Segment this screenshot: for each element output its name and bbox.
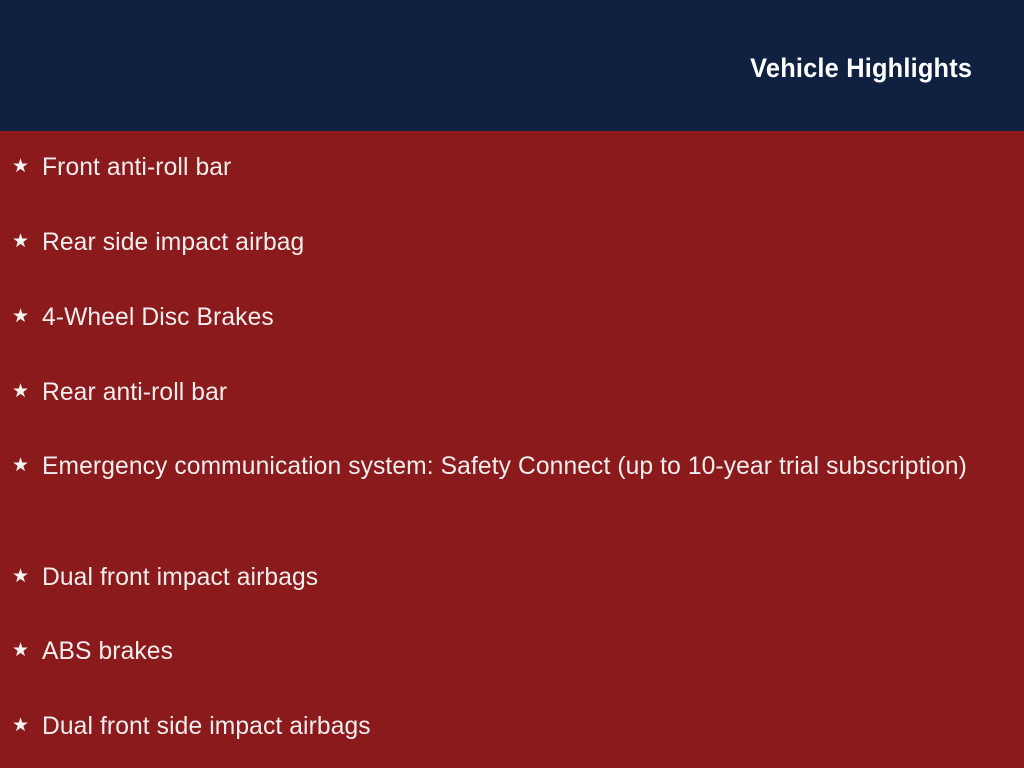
list-item: ★ ABS brakes	[12, 636, 994, 667]
list-item-label: 4-Wheel Disc Brakes	[42, 302, 980, 333]
list-item: ★ Dual front side impact airbags	[12, 711, 994, 742]
list-item-label: Rear side impact airbag	[42, 227, 980, 258]
list-item: ★ Emergency communication system: Safety…	[12, 451, 994, 482]
list-item-label: ABS brakes	[42, 636, 980, 667]
list-item-label: Dual front impact airbags	[42, 562, 980, 593]
page-title: Vehicle Highlights	[750, 55, 972, 82]
star-bullet-icon: ★	[12, 227, 42, 257]
star-bullet-icon: ★	[12, 451, 42, 481]
vehicle-highlights-list: ★ Front anti-roll bar ★ Rear side impact…	[0, 131, 1024, 768]
list-item: ★ 4-Wheel Disc Brakes	[12, 302, 994, 333]
list-item-label: Rear anti-roll bar	[42, 377, 980, 408]
list-item: ★ Front anti-roll bar	[12, 152, 994, 183]
star-bullet-icon: ★	[12, 562, 42, 592]
list-item-label: Emergency communication system: Safety C…	[42, 451, 980, 482]
star-bullet-icon: ★	[12, 152, 42, 182]
star-bullet-icon: ★	[12, 377, 42, 407]
list-item-label: Dual front side impact airbags	[42, 711, 980, 742]
list-item: ★ Rear anti-roll bar	[12, 377, 994, 408]
star-bullet-icon: ★	[12, 636, 42, 666]
slide-header-band: Vehicle Highlights	[0, 0, 1024, 131]
list-item: ★ Dual front impact airbags	[12, 562, 994, 593]
star-bullet-icon: ★	[12, 711, 42, 741]
list-item-label: Front anti-roll bar	[42, 152, 980, 183]
star-bullet-icon: ★	[12, 302, 42, 332]
list-item: ★ Rear side impact airbag	[12, 227, 994, 258]
vehicle-highlights-slide: Vehicle Highlights ★ Front anti-roll bar…	[0, 0, 1024, 768]
